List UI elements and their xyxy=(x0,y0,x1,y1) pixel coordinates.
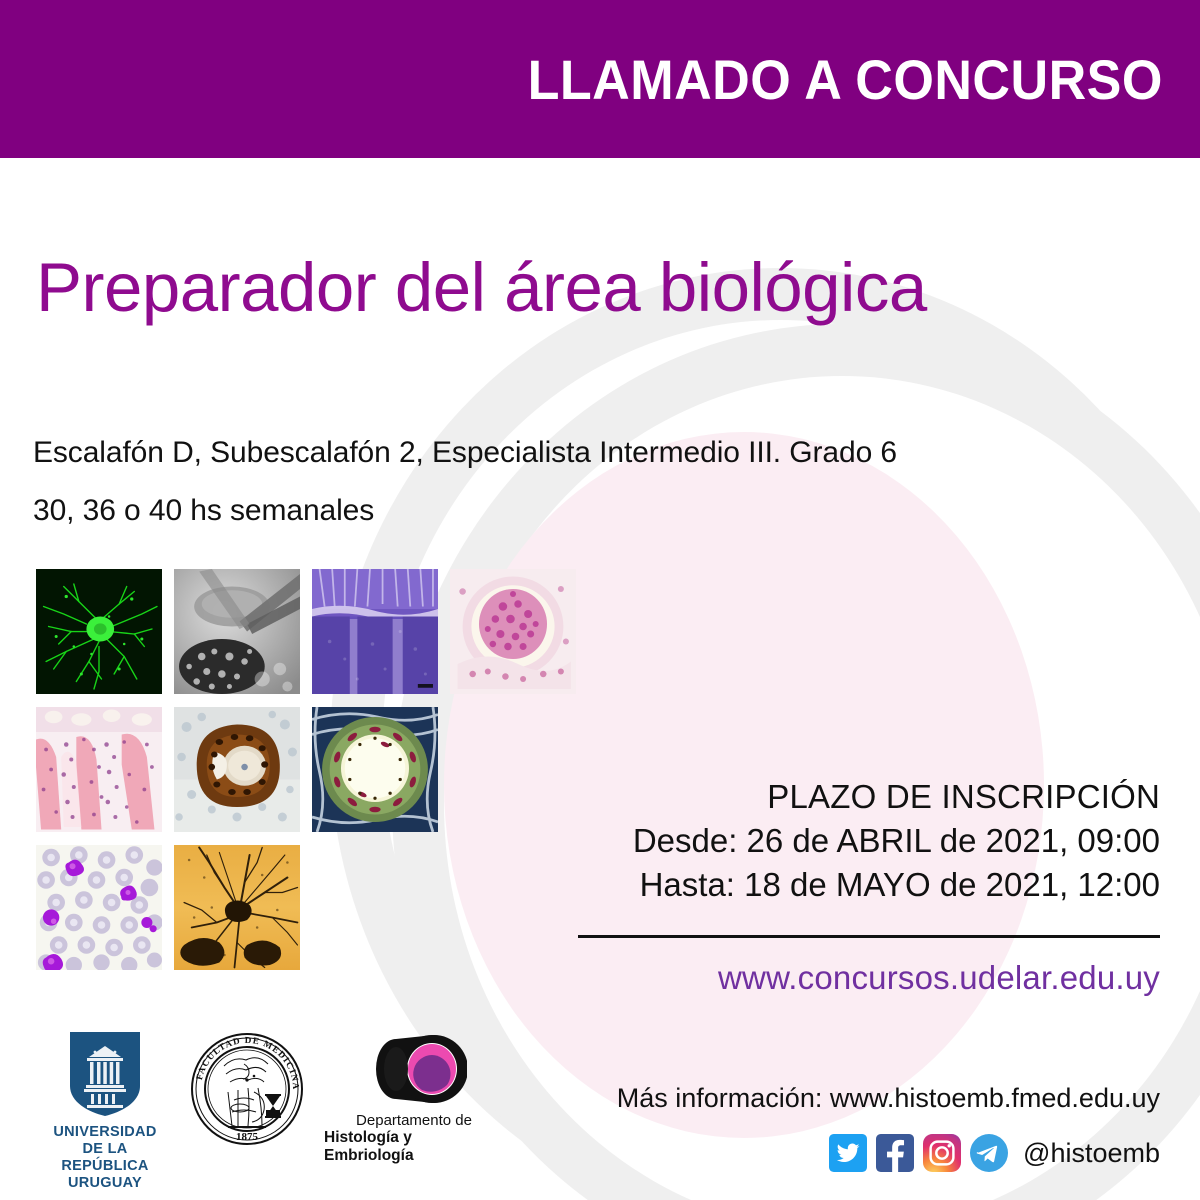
gallery-row xyxy=(36,707,596,832)
telegram-icon[interactable] xyxy=(970,1134,1008,1172)
page-title: Preparador del área biológica xyxy=(36,252,927,324)
departamento-histologia-logo: Departamento de Histología y Embriología xyxy=(324,1030,504,1165)
udelar-caption: UNIVERSIDAD DE LA REPÚBLICA URUGUAY xyxy=(40,1124,170,1192)
medicina-seal-icon: FACULTAD DE MEDICINA MONTEVIDEO xyxy=(188,1030,306,1148)
institution-logos: UNIVERSIDAD DE LA REPÚBLICA URUGUAY xyxy=(40,1030,504,1192)
udelar-caption-line: UNIVERSIDAD xyxy=(40,1124,170,1141)
histology-image-gallery xyxy=(36,569,596,983)
more-info-text: Más información: www.histoemb.fmed.edu.u… xyxy=(617,1083,1160,1114)
concursos-url-link[interactable]: www.concursos.udelar.edu.uy xyxy=(718,959,1160,997)
gallery-row xyxy=(36,569,596,694)
registration-start-date: Desde: 26 de ABRIL de 2021, 09:00 xyxy=(540,819,1160,863)
gallery-image-epithelium-toluidine xyxy=(312,569,438,694)
registration-period-heading: PLAZO DE INSCRIPCIÓN xyxy=(540,775,1160,819)
poster-content: Preparador del área biológica Escalafón … xyxy=(0,0,1200,1200)
social-handle: @histoemb xyxy=(1023,1138,1160,1169)
microscope-lens-icon xyxy=(362,1030,467,1108)
twitter-icon[interactable] xyxy=(829,1134,867,1172)
udelar-shield-icon xyxy=(68,1030,142,1118)
job-details: Escalafón D, Subescalafón 2, Especialist… xyxy=(33,424,1093,540)
social-links: @histoemb xyxy=(829,1134,1160,1172)
udelar-caption-line: URUGUAY xyxy=(40,1175,170,1192)
facebook-icon[interactable] xyxy=(876,1134,914,1172)
poster-root: LLAMADO A CONCURSO Preparador del área b… xyxy=(0,0,1200,1200)
gallery-image-neuron-immunofluorescence xyxy=(36,569,162,694)
gallery-row xyxy=(36,845,596,970)
gallery-image-blood-smear xyxy=(36,845,162,970)
gallery-image-renal-glomerulus-he xyxy=(450,569,576,694)
udelar-caption-line: DE LA REPÚBLICA xyxy=(40,1141,170,1175)
departamento-caption-line2: Histología y Embriología xyxy=(324,1129,504,1165)
seal-year: 1875 xyxy=(236,1131,259,1143)
job-detail-line: 30, 36 o 40 hs semanales xyxy=(33,482,1093,540)
facultad-de-medicina-seal: FACULTAD DE MEDICINA MONTEVIDEO xyxy=(188,1030,306,1153)
job-detail-line: Escalafón D, Subescalafón 2, Especialist… xyxy=(33,424,1093,482)
divider-rule xyxy=(578,935,1160,938)
udelar-logo: UNIVERSIDAD DE LA REPÚBLICA URUGUAY xyxy=(40,1030,170,1192)
departamento-caption-line1: Departamento de xyxy=(356,1112,472,1129)
gallery-image-electron-micrograph xyxy=(174,569,300,694)
registration-period: PLAZO DE INSCRIPCIÓN Desde: 26 de ABRIL … xyxy=(540,775,1160,907)
gallery-image-immunohistochemistry-dab xyxy=(174,707,300,832)
gallery-image-golgi-stain-neuron xyxy=(174,845,300,970)
gallery-image-bone-ossification-he xyxy=(36,707,162,832)
registration-end-date: Hasta: 18 de MAYO de 2021, 12:00 xyxy=(540,863,1160,907)
instagram-icon[interactable] xyxy=(923,1134,961,1172)
gallery-image-artery-masson-trichrome xyxy=(312,707,438,832)
